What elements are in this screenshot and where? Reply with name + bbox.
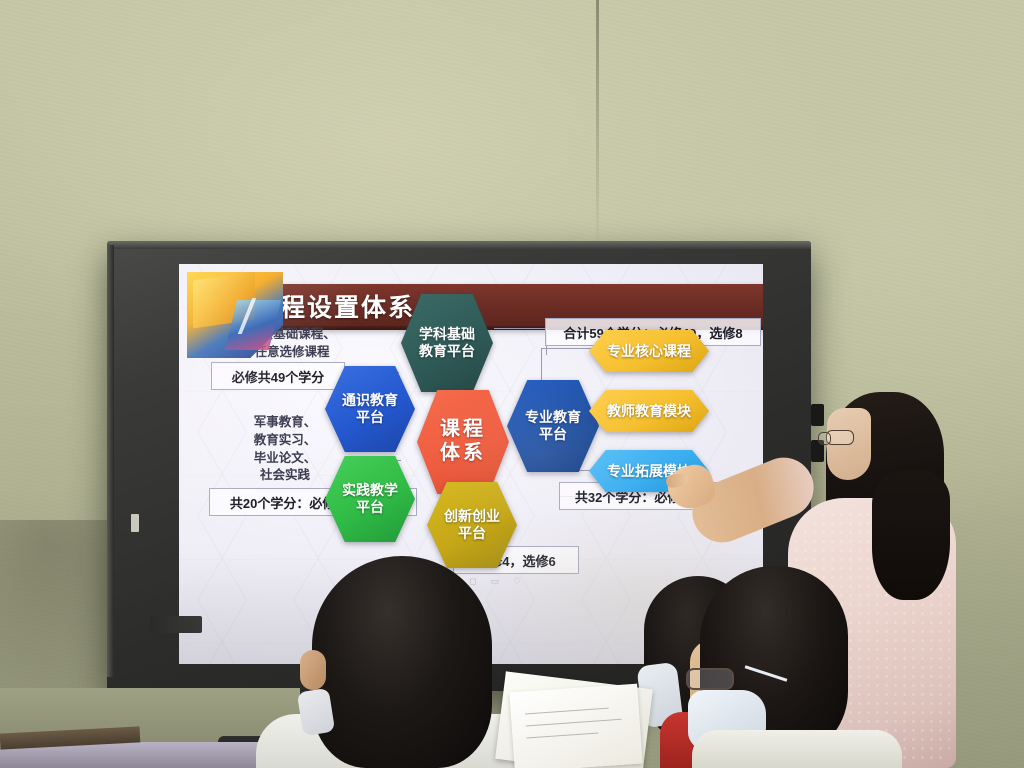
presenter-hair-front-strand xyxy=(872,470,950,600)
hex-label: 教师教育模块 xyxy=(607,403,691,420)
hex-general-education[interactable]: 通识教育 平台 xyxy=(325,366,415,452)
hex-innovation-entrepreneurship[interactable]: 创新创业 平台 xyxy=(427,482,517,568)
paper-line xyxy=(525,708,609,715)
hex-major-core-course[interactable]: 专业核心课程 xyxy=(589,330,709,372)
audience-1-head xyxy=(312,556,492,768)
shape-heart-icon[interactable]: ♡ xyxy=(513,576,521,587)
display-side-button-1[interactable] xyxy=(811,404,824,426)
connector-major-to-core xyxy=(541,348,594,383)
hex-label-line1: 专业教育 xyxy=(525,409,581,426)
audience-3-glasses xyxy=(686,668,734,690)
audience-1-mask-strap xyxy=(297,688,335,736)
display-left-port xyxy=(131,514,139,532)
hex-label-line1: 实践教学 xyxy=(342,482,398,499)
hex-label-line2: 教育平台 xyxy=(419,343,475,360)
wall-seam-upper xyxy=(596,0,599,250)
bezel-left-highlight xyxy=(107,245,114,677)
hex-label-line1: 课程 xyxy=(440,418,486,442)
handout-paper-front xyxy=(509,684,642,768)
paper-line xyxy=(527,732,599,738)
hex-label-line1: 学科基础 xyxy=(419,326,475,343)
hex-major-education[interactable]: 专业教育 平台 xyxy=(507,380,599,472)
hex-label-line2: 平台 xyxy=(539,426,567,443)
display-lower-vent xyxy=(150,616,202,633)
hex-label: 专业核心课程 xyxy=(607,343,691,360)
hex-practice-teaching[interactable]: 实践教学 平台 xyxy=(325,456,415,542)
connector-subject-to-box xyxy=(494,328,547,355)
hex-teacher-education-module[interactable]: 教师教育模块 xyxy=(589,390,709,432)
screenshot-scene: 课程设置体系 学科基础 教育平台 通识教 xyxy=(0,0,1024,768)
audience-1-ear xyxy=(300,650,326,690)
presenter-glasses-lens-left xyxy=(818,432,831,445)
ppt-control-icons[interactable]: ◻ ▭ ♡ xyxy=(469,576,521,587)
bezel-top-highlight xyxy=(107,241,811,249)
hex-label-line2: 平台 xyxy=(458,525,486,542)
hex-label-line2: 平台 xyxy=(356,409,384,426)
hex-label-line2: 平台 xyxy=(356,499,384,516)
audience-3-shirt xyxy=(692,730,902,768)
shape-rect-icon[interactable]: ▭ xyxy=(490,576,499,587)
paper-line xyxy=(526,719,622,727)
shape-square-icon[interactable]: ◻ xyxy=(469,576,476,587)
hex-label-line2: 体系 xyxy=(440,442,486,466)
hex-course-system-center[interactable]: 课程 体系 xyxy=(417,390,509,494)
hex-label-line1: 通识教育 xyxy=(342,392,398,409)
hex-label-line1: 创新创业 xyxy=(444,508,500,525)
